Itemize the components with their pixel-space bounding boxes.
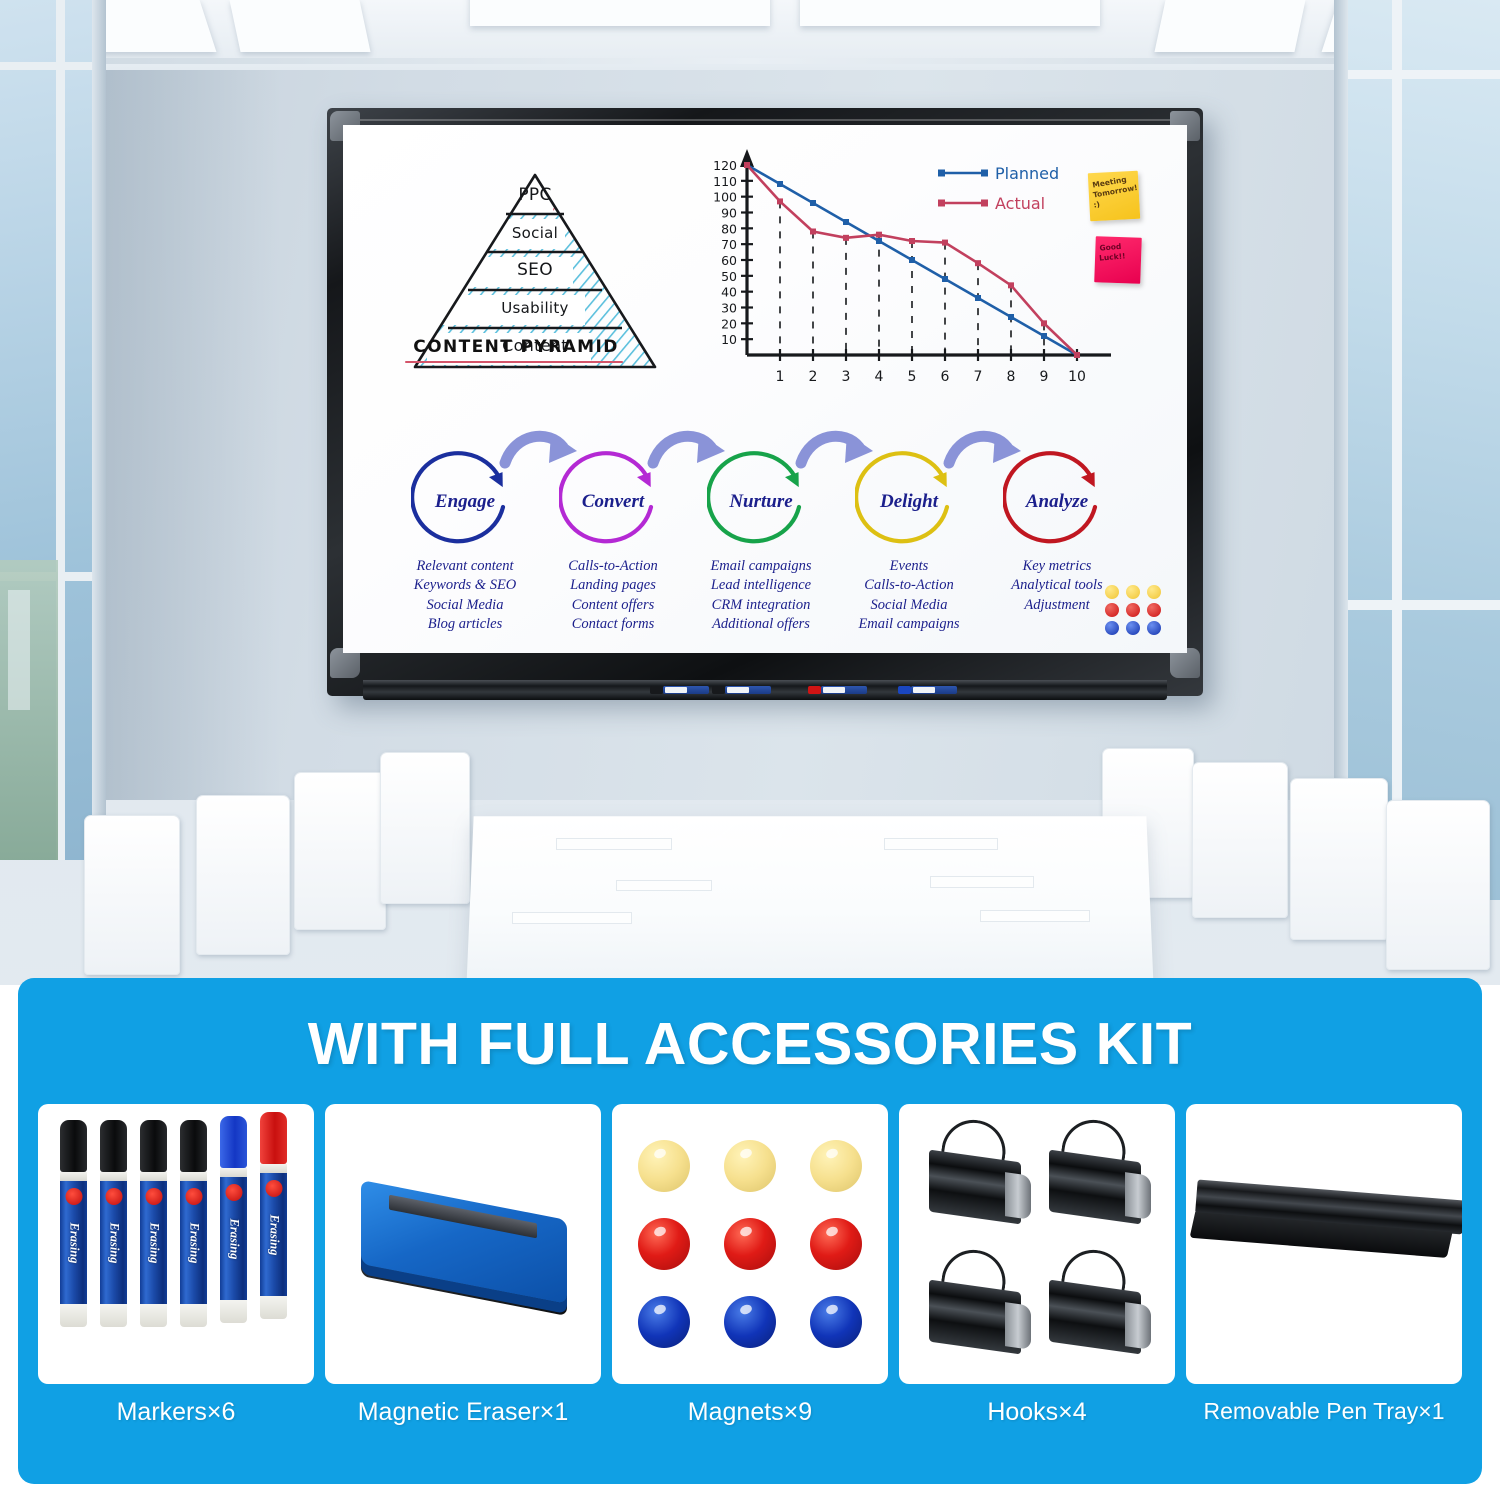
cycle-item: Relevant content [395, 557, 535, 576]
marker-black-1: Erasing [60, 1120, 87, 1350]
hook [925, 1250, 1029, 1368]
sticky-note-yellow[interactable]: Meeting Tomorrow! :) [1088, 171, 1140, 222]
accessory-card-hooks [899, 1104, 1175, 1384]
svg-text:30: 30 [721, 301, 737, 316]
table-document [930, 876, 1034, 888]
cycle-stage-convert[interactable]: Convert Calls-to-Action Landing pages Co… [543, 425, 683, 634]
hooks-grid [925, 1120, 1149, 1368]
hook [1045, 1250, 1149, 1368]
cycle-item: Calls-to-Action [543, 557, 683, 576]
accessory-markers: Erasing Erasing Erasing [38, 1104, 314, 1427]
cycle-item: Additional offers [691, 615, 831, 634]
accessories-row: Erasing Erasing Erasing [18, 1078, 1482, 1427]
svg-text:8: 8 [1007, 369, 1016, 385]
hook [925, 1120, 1029, 1238]
table-document [616, 880, 712, 891]
magnet-blue[interactable] [1105, 621, 1119, 635]
magnet-row-yellow [1105, 585, 1169, 599]
cycle-stage-delight[interactable]: Delight Events Calls-to-Action Social Me… [839, 425, 979, 634]
burndown-chart: 10203040506070809010011012012345678910Pl… [691, 143, 1111, 403]
magnet-blue[interactable] [1147, 621, 1161, 635]
chair [380, 752, 470, 904]
chair [1386, 800, 1490, 970]
cycle-item: Blog articles [395, 615, 535, 634]
magnet-row-blue [1105, 621, 1169, 635]
chair [1192, 762, 1288, 918]
magnet-red[interactable] [1126, 603, 1140, 617]
marker-black-4: Erasing [180, 1120, 207, 1350]
cycle-item: Lead intelligence [691, 576, 831, 595]
marker-red: Erasing [260, 1112, 287, 1350]
magnet-row-red [1105, 603, 1169, 617]
chair [196, 795, 290, 955]
cycle-stage-nurture[interactable]: Nurture Email campaigns Lead intelligenc… [691, 425, 831, 634]
svg-text:40: 40 [721, 285, 737, 300]
svg-text:7: 7 [974, 369, 983, 385]
accessory-label-hooks: Hooks×4 [987, 1398, 1086, 1427]
window-left [0, 0, 92, 860]
marker-brand-label: Erasing [66, 1222, 81, 1263]
svg-text:120: 120 [713, 158, 737, 173]
svg-text:70: 70 [721, 237, 737, 252]
cycle-ring-nurture: Nurture [707, 447, 815, 549]
magnet-yellow[interactable] [1105, 585, 1119, 599]
cycle-ring-analyze: Analyze [1003, 447, 1111, 549]
magnet-red[interactable] [1105, 603, 1119, 617]
magnet-red [724, 1218, 776, 1270]
pyramid-level-social: Social [409, 224, 661, 242]
magnet-yellow[interactable] [1147, 585, 1161, 599]
tray-marker[interactable] [911, 686, 957, 694]
cycle-item: Keywords & SEO [395, 576, 535, 595]
accessory-label-pen-tray: Removable Pen Tray×1 [1204, 1398, 1445, 1425]
accessory-card-eraser [325, 1104, 601, 1384]
cycle-ring-delight: Delight [855, 447, 963, 549]
magnet-blue [638, 1296, 690, 1348]
marketing-cycle-diagram: Engage Relevant content Keywords & SEO S… [395, 425, 1135, 625]
tray-marker[interactable] [663, 686, 709, 694]
svg-text:100: 100 [713, 190, 737, 205]
accessory-card-pen-tray [1186, 1104, 1462, 1384]
svg-text:90: 90 [721, 206, 737, 221]
sticky-note-pink[interactable]: Good Luck!! [1094, 236, 1142, 284]
cycle-item: Events [839, 557, 979, 576]
cycle-items-convert: Calls-to-Action Landing pages Content of… [543, 557, 683, 634]
chair [294, 772, 386, 930]
marker-brand-label: Erasing [146, 1222, 161, 1263]
accessory-label-markers: Markers×6 [117, 1398, 236, 1427]
cycle-item: Key metrics [987, 557, 1127, 576]
magnet-yellow [638, 1140, 690, 1192]
accessories-banner: WITH FULL ACCESSORIES KIT Erasing Erasin… [18, 978, 1482, 1484]
cycle-title-delight: Delight [855, 491, 963, 513]
marker-brand-label: Erasing [266, 1214, 281, 1255]
svg-text:9: 9 [1040, 369, 1049, 385]
svg-text:110: 110 [713, 174, 737, 189]
cycle-ring-convert: Convert [559, 447, 667, 549]
svg-text:1: 1 [776, 369, 785, 385]
magnet-blue [810, 1296, 862, 1348]
svg-text:80: 80 [721, 221, 737, 236]
marker-black-2: Erasing [100, 1120, 127, 1350]
ceiling-trim [0, 58, 1500, 64]
chair [1290, 778, 1388, 940]
accessory-card-markers: Erasing Erasing Erasing [38, 1104, 314, 1384]
window-frame-left [92, 0, 106, 870]
cycle-item: Email campaigns [839, 615, 979, 634]
whiteboard-pen-tray[interactable] [363, 680, 1167, 700]
cycle-item: Content offers [543, 596, 683, 615]
ceiling-panel [470, 0, 770, 26]
magnet-blue [724, 1296, 776, 1348]
svg-text:4: 4 [875, 369, 884, 385]
cycle-item: Landing pages [543, 576, 683, 595]
table-document [512, 912, 632, 924]
svg-text:50: 50 [721, 269, 737, 284]
legend-label-actual: Actual [995, 194, 1045, 213]
pyramid-caption: CONTENT PYRAMID [401, 337, 631, 357]
cycle-title-engage: Engage [411, 491, 519, 513]
magnets-grid [638, 1140, 862, 1348]
accessory-card-magnets [612, 1104, 888, 1384]
svg-text:2: 2 [809, 369, 818, 385]
accessory-magnetic-eraser: Magnetic Eraser×1 [325, 1104, 601, 1427]
magnet-red [638, 1218, 690, 1270]
magnet-red [810, 1218, 862, 1270]
tray-marker[interactable] [821, 686, 867, 694]
board-magnets-group[interactable] [1105, 585, 1169, 639]
magnet-yellow [810, 1140, 862, 1192]
ceiling-panel [229, 0, 370, 52]
svg-text:3: 3 [842, 369, 851, 385]
marker-black-3: Erasing [140, 1120, 167, 1350]
accessory-hooks: Hooks×4 [899, 1104, 1175, 1427]
cycle-title-nurture: Nurture [707, 491, 815, 513]
svg-text:20: 20 [721, 316, 737, 331]
magnet-red[interactable] [1147, 603, 1161, 617]
pyramid-level-seo: SEO [409, 260, 661, 280]
cycle-item: CRM integration [691, 596, 831, 615]
cycle-item: Social Media [395, 596, 535, 615]
pyramid-level-usability: Usability [409, 299, 661, 317]
burndown-chart-svg: 10203040506070809010011012012345678910Pl… [691, 143, 1111, 393]
table-document [884, 838, 998, 850]
cycle-items-nurture: Email campaigns Lead intelligence CRM in… [691, 557, 831, 634]
table-document [556, 838, 672, 850]
marker-brand-label: Erasing [226, 1218, 241, 1259]
chair [84, 815, 180, 975]
magnet-yellow[interactable] [1126, 585, 1140, 599]
sticky-pink-line2: Luck!! [1099, 250, 1138, 263]
window-frame-right [1334, 0, 1348, 900]
svg-text:60: 60 [721, 253, 737, 268]
cycle-ring-engage: Engage [411, 447, 519, 549]
cycle-item: Calls-to-Action [839, 576, 979, 595]
accessory-label-magnets: Magnets×9 [688, 1398, 812, 1427]
cycle-item: Social Media [839, 596, 979, 615]
magnet-blue[interactable] [1126, 621, 1140, 635]
marker-blue: Erasing [220, 1116, 247, 1350]
pyramid-level-ppc: PPC [409, 185, 661, 205]
svg-text:10: 10 [1068, 369, 1086, 385]
cycle-item: Email campaigns [691, 557, 831, 576]
magnet-yellow [724, 1140, 776, 1192]
cycle-title-convert: Convert [559, 491, 667, 513]
marker-brand-label: Erasing [186, 1222, 201, 1263]
svg-text:6: 6 [941, 369, 950, 385]
accessory-magnets: Magnets×9 [612, 1104, 888, 1427]
content-pyramid-diagram: PPC Social SEO Usability Content [409, 169, 661, 407]
accessory-label-eraser: Magnetic Eraser×1 [358, 1398, 569, 1427]
whiteboard-surface[interactable]: PPC Social SEO Usability Content CONTENT… [343, 125, 1187, 653]
marker-brand-label: Erasing [106, 1222, 121, 1263]
cycle-items-delight: Events Calls-to-Action Social Media Emai… [839, 557, 979, 634]
frame-highlight [343, 119, 1187, 121]
svg-text:5: 5 [908, 369, 917, 385]
table-document [980, 910, 1090, 922]
ceiling-panel [800, 0, 1100, 26]
accessory-pen-tray: Removable Pen Tray×1 [1186, 1104, 1462, 1427]
cycle-title-analyze: Analyze [1003, 491, 1111, 513]
whiteboard[interactable]: PPC Social SEO Usability Content CONTENT… [327, 108, 1203, 696]
banner-title: WITH FULL ACCESSORIES KIT [18, 978, 1482, 1078]
wall-shadow [80, 0, 280, 800]
ceiling-panel [1154, 0, 1305, 52]
legend-label-planned: Planned [995, 164, 1059, 183]
tray-marker[interactable] [725, 686, 771, 694]
cycle-stage-engage[interactable]: Engage Relevant content Keywords & SEO S… [395, 425, 535, 634]
window-view [0, 560, 58, 860]
svg-text:10: 10 [721, 332, 737, 347]
cycle-items-engage: Relevant content Keywords & SEO Social M… [395, 557, 535, 634]
window-right [1348, 0, 1500, 900]
cycle-item: Contact forms [543, 615, 683, 634]
hook [1045, 1120, 1149, 1238]
